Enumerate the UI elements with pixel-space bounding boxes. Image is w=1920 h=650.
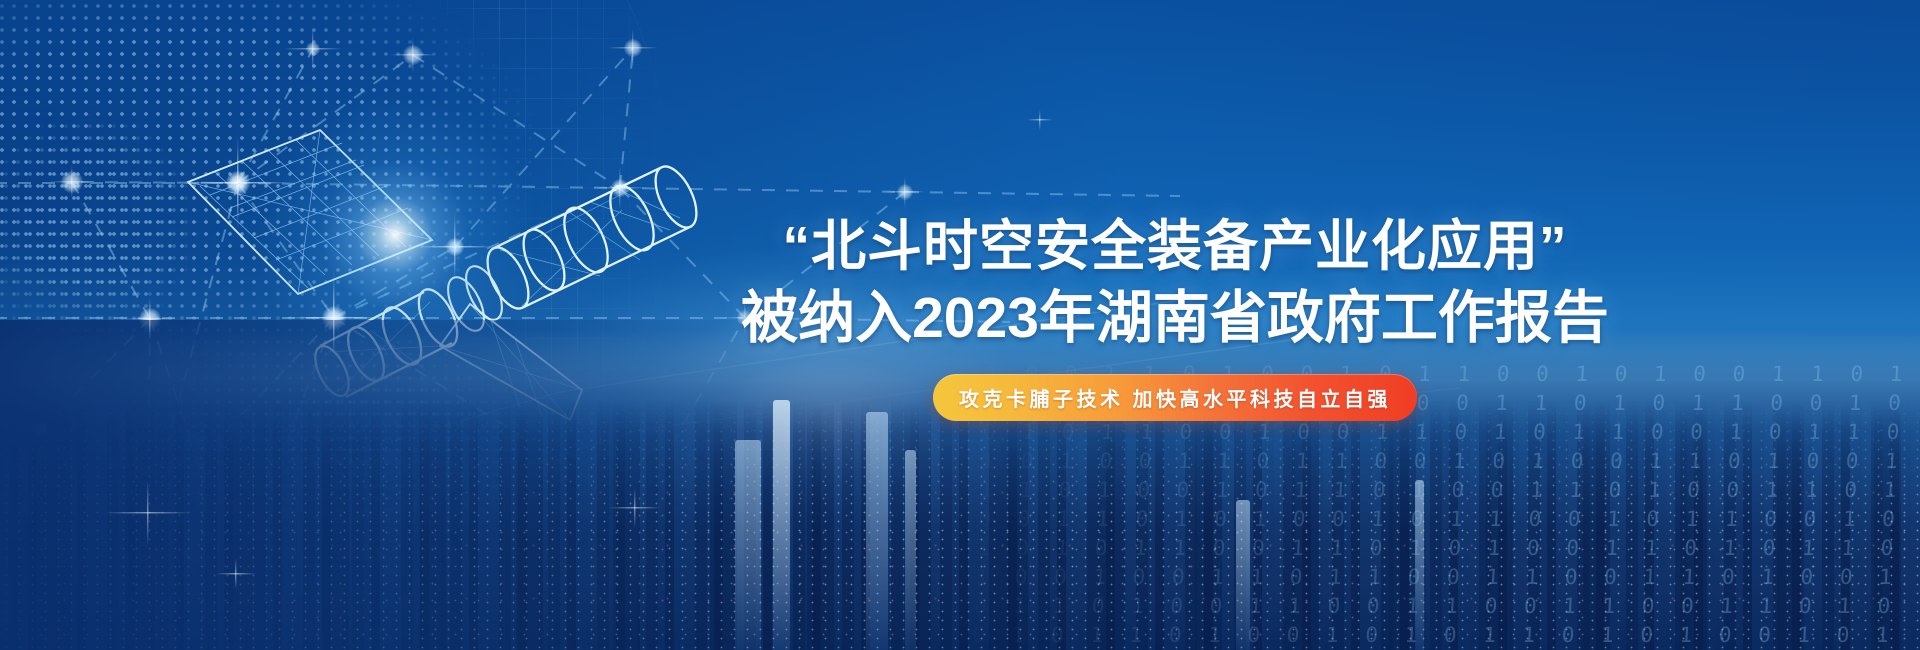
- page-title: “北斗时空安全装备产业化应用” 被纳入2023年湖南省政府工作报告: [660, 210, 1690, 354]
- slogan-badge: 攻克卡脯子技术 加快高水平科技自立自强: [933, 374, 1417, 421]
- headline-line-2: 被纳入2023年湖南省政府工作报告: [660, 282, 1690, 354]
- headline-line-1: “北斗时空安全装备产业化应用”: [660, 210, 1690, 282]
- badge-row: 攻克卡脯子技术 加快高水平科技自立自强: [660, 374, 1690, 421]
- banner-content: “北斗时空安全装备产业化应用” 被纳入2023年湖南省政府工作报告 攻克卡脯子技…: [660, 210, 1690, 421]
- promo-banner: 0 1 0 0 1 1 0 1 0 0 1 0 1 1 0 0 1 0 1 0 …: [0, 0, 1920, 650]
